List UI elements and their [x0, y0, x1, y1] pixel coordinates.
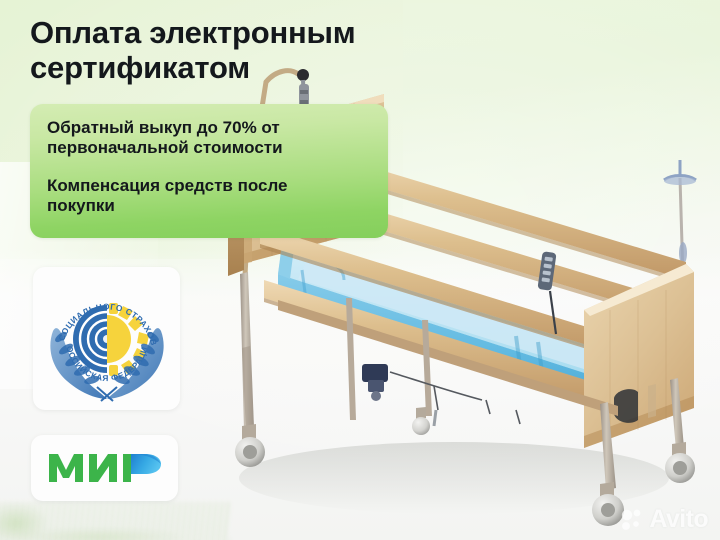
caster-wheel	[665, 442, 695, 483]
mir-logo-card	[31, 435, 178, 501]
listing-image: Оплата электронным сертификатом Обратный…	[0, 0, 720, 540]
mir-logo-icon	[47, 448, 163, 488]
benefit-item-1: Обратный выкуп до 70% от первоначальной …	[47, 118, 378, 159]
page-title: Оплата электронным сертификатом	[30, 16, 510, 85]
fss-logo-icon: ФОНД СОЦИАЛЬНОГО СТРАХОВАНИЯ РОССИЙСКАЯ …	[41, 275, 173, 403]
benefits-panel: Обратный выкуп до 70% от первоначальной …	[30, 104, 388, 238]
avito-watermark: Avito	[620, 507, 708, 532]
caster-wheel	[235, 424, 265, 467]
bed-motor	[362, 364, 388, 401]
avito-dots-icon	[620, 508, 644, 532]
benefit-item-2: Компенсация средств после покупки	[47, 176, 378, 217]
avito-wordmark: Avito	[649, 507, 708, 532]
fss-logo-card: ФОНД СОЦИАЛЬНОГО СТРАХОВАНИЯ РОССИЙСКАЯ …	[33, 267, 180, 410]
